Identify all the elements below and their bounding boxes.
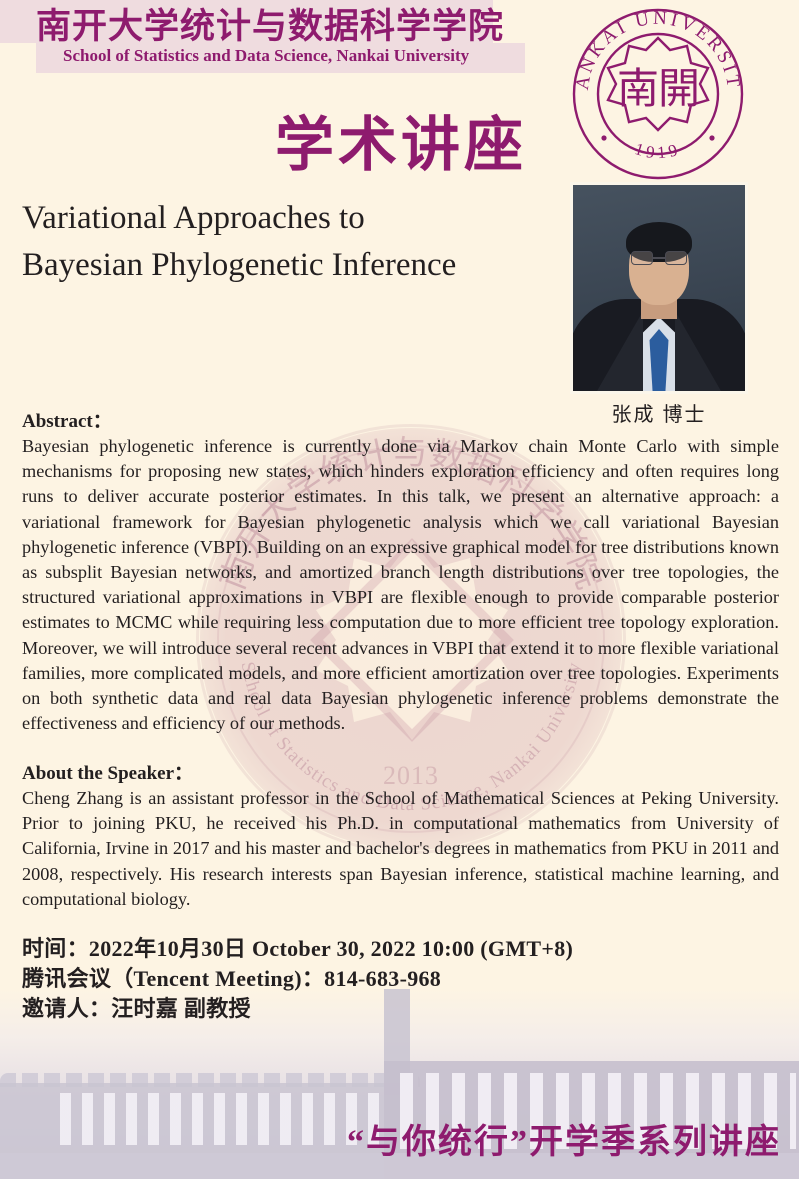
logo-center-chars: 南開 [617, 67, 699, 113]
speaker-portrait-image [570, 182, 748, 394]
about-speaker-heading: About the Speaker： [22, 758, 193, 785]
event-meeting-id: 腾讯会议（Tencent Meeting)：814-683-968 [22, 964, 573, 994]
speaker-name: 张成 博士 [570, 398, 748, 427]
event-host: 邀请人：汪时嘉 副教授 [22, 994, 573, 1024]
portrait-glasses-icon [631, 251, 687, 266]
speaker-photo [570, 182, 748, 394]
event-time: 时间：2022年10月30日 October 30, 2022 10:00 (G… [22, 934, 573, 964]
logo-year: 1919 [632, 139, 683, 162]
abstract-heading: Abstract： [22, 406, 112, 433]
portrait-tie [650, 329, 669, 391]
about-speaker-text: Cheng Zhang is an assistant professor in… [22, 786, 779, 912]
building-windows-left [60, 1093, 390, 1145]
title-line-1: Variational Approaches to [22, 195, 552, 242]
title-line-2: Bayesian Phylogenetic Inference [22, 242, 552, 289]
event-details: 时间：2022年10月30日 October 30, 2022 10:00 (G… [22, 934, 573, 1024]
poster-root: 南开大学统计与数据科学学院 School of Statistics and D… [0, 0, 799, 1179]
nankai-university-logo-icon: NANKAI UNIVERSITY 1919 南開 [572, 8, 744, 180]
school-name-en: School of Statistics and Data Science, N… [63, 46, 469, 66]
school-name-cn: 南开大学统计与数据科学学院 [36, 0, 504, 49]
series-title: “与你统行”开学季系列讲座 [347, 1114, 781, 1163]
svg-text:1919: 1919 [632, 139, 683, 162]
page-title: Variational Approaches to Bayesian Phylo… [22, 195, 552, 289]
abstract-text: Bayesian phylogenetic inference is curre… [22, 434, 779, 736]
talk-type-label: 学术讲座 [275, 97, 527, 182]
